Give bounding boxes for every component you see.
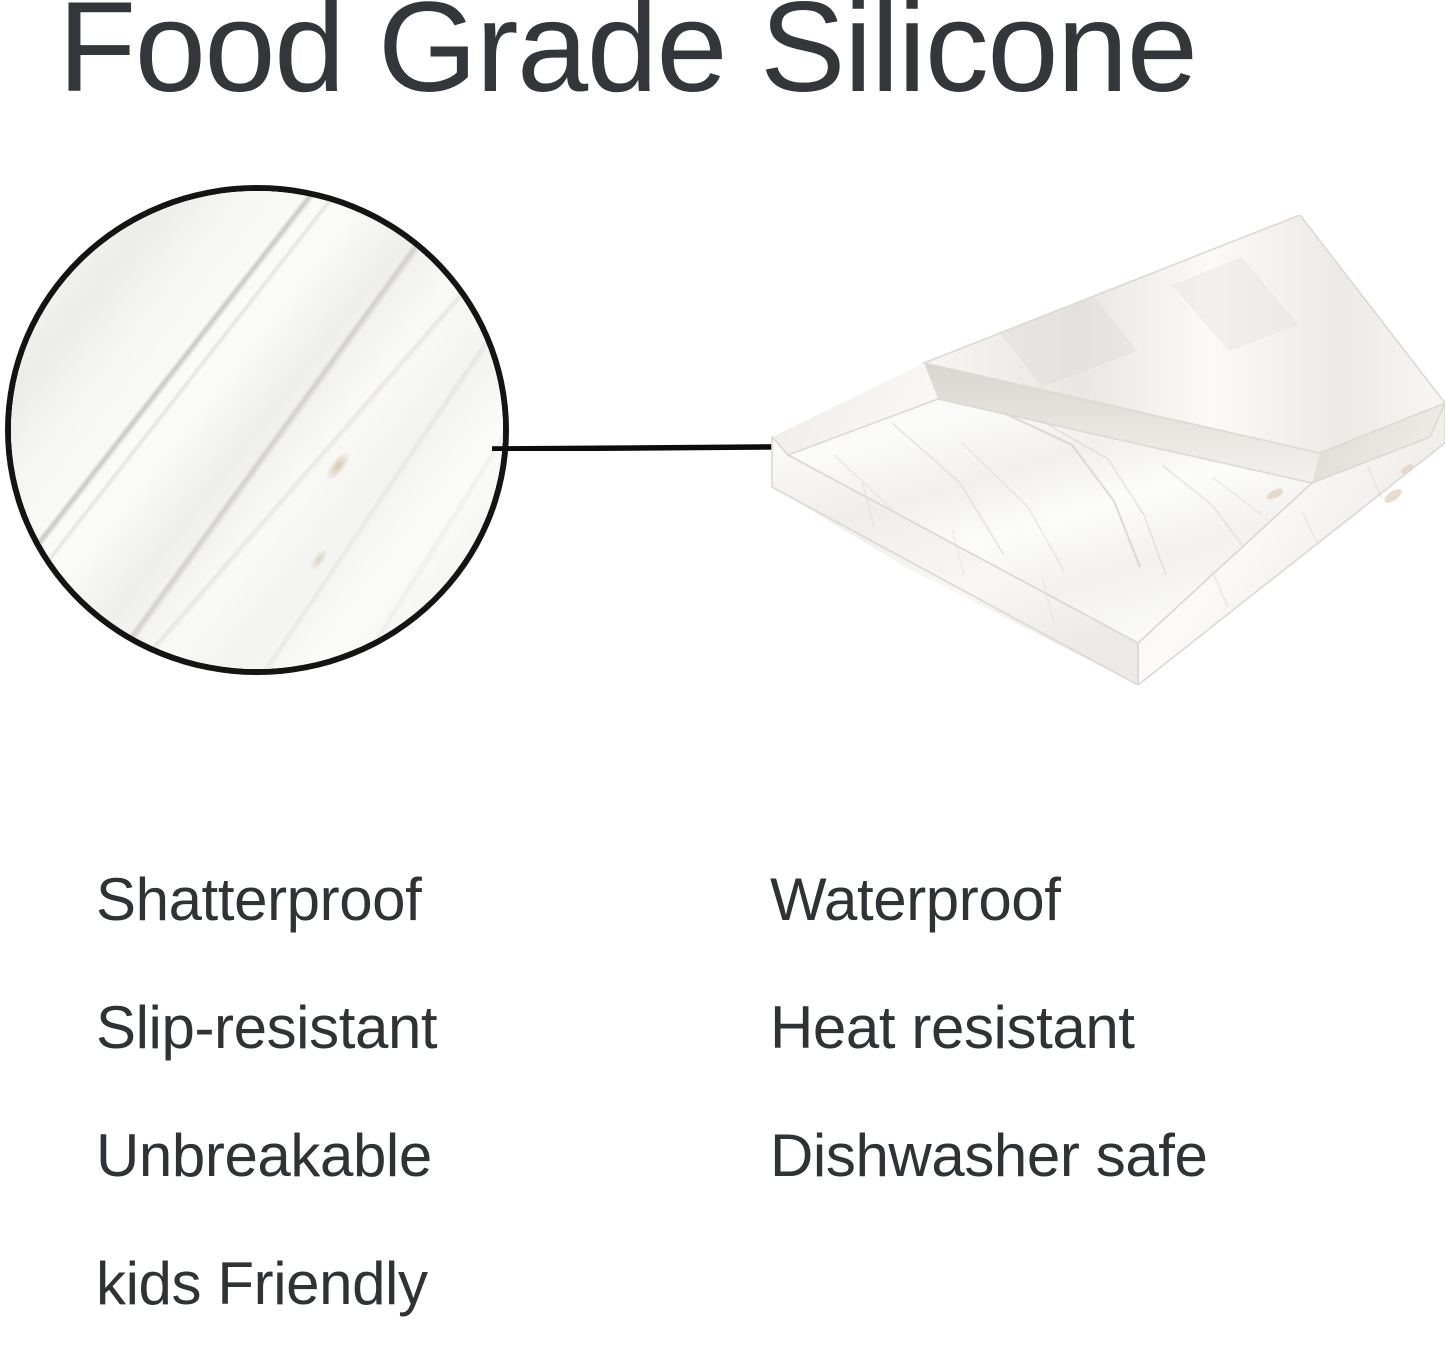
features-column-right: Waterproof Heat resistant Dishwasher saf… [770,836,1208,1220]
feature-item: Unbreakable [96,1092,437,1220]
feature-item: Waterproof [770,836,1208,964]
product-tray [742,215,1445,685]
features-column-left: Shatterproof Slip-resistant Unbreakable … [96,836,437,1348]
feature-item: Shatterproof [96,836,437,964]
magnifier-circle [5,185,509,675]
feature-item: Dishwasher safe [770,1092,1208,1220]
page-title: Food Grade Silicone [58,0,1196,112]
feature-item: Slip-resistant [96,964,437,1092]
marble-texture-fill [5,185,509,675]
feature-item: Heat resistant [770,964,1208,1092]
feature-item: kids Friendly [96,1220,437,1348]
